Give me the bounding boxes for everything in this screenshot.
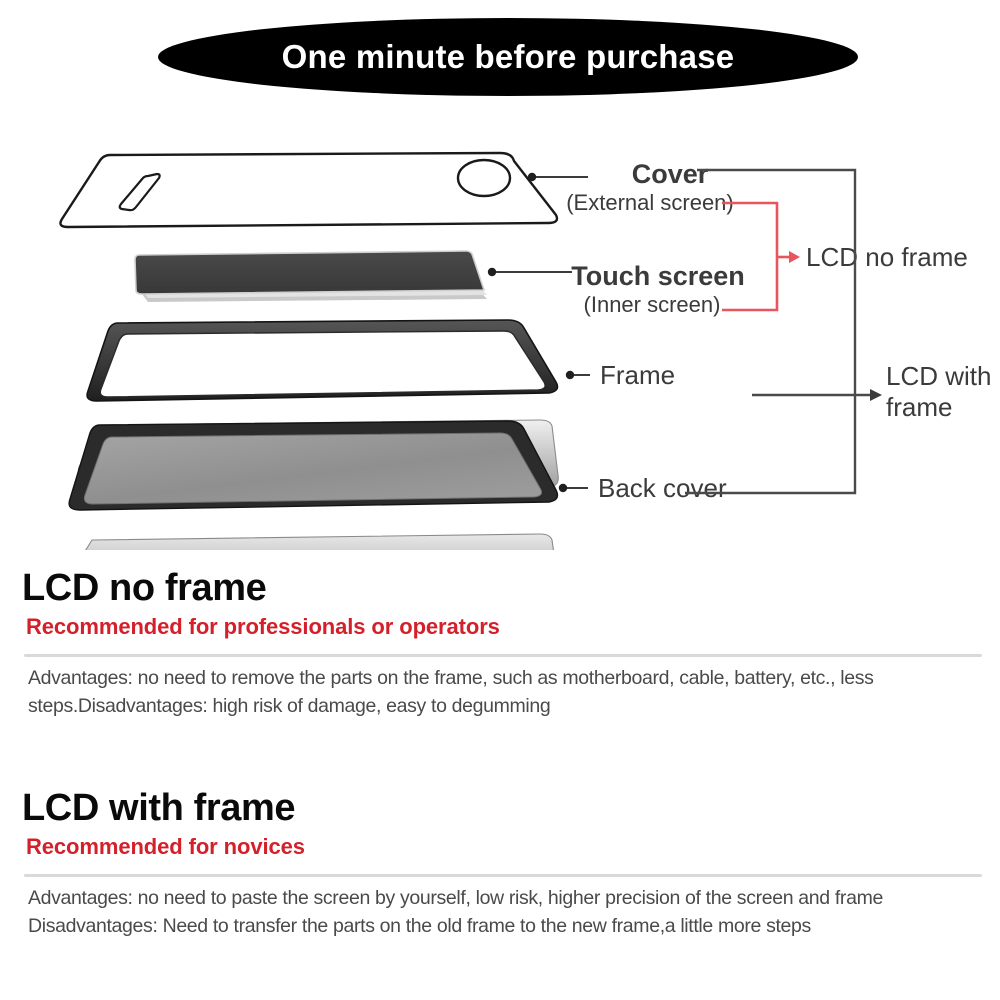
- label-backcover: Back cover: [598, 473, 727, 503]
- section-body-line-1: Advantages: no need to paste the screen …: [28, 885, 980, 913]
- section-recommendation-lcd-with-frame: Recommended for novices: [26, 834, 1000, 860]
- title-banner: One minute before purchase: [158, 18, 858, 96]
- section-body-line-2: steps.Disadvantages: high risk of damage…: [28, 693, 980, 721]
- label-lcd-with-frame-line2: frame: [886, 392, 952, 422]
- section-divider-lcd-no-frame: [24, 654, 982, 657]
- label-touchscreen-sub: (Inner screen): [584, 292, 721, 317]
- callout-arrow-lcd-no-frame: [789, 251, 800, 263]
- section-lcd-no-frame: LCD no frame Recommended for professiona…: [0, 568, 1000, 721]
- section-body-line-1: Advantages: no need to remove the parts …: [28, 665, 980, 693]
- part-touchscreen-illustration: [135, 251, 487, 302]
- section-lcd-with-frame: LCD with frame Recommended for novices A…: [0, 788, 1000, 941]
- page-title: One minute before purchase: [158, 18, 858, 96]
- section-body-lcd-no-frame: Advantages: no need to remove the parts …: [28, 665, 980, 720]
- label-lcd-no-frame: LCD no frame: [806, 242, 968, 272]
- section-body-lcd-with-frame: Advantages: no need to paste the screen …: [28, 885, 980, 940]
- part-backcover-illustration: [65, 421, 558, 550]
- callout-bracket-lcd-with-frame: [685, 170, 872, 493]
- label-cover-sub: (External screen): [566, 190, 734, 215]
- label-cover: Cover: [632, 159, 709, 189]
- section-divider-lcd-with-frame: [24, 874, 982, 877]
- section-body-line-2: Disadvantages: Need to transfer the part…: [28, 913, 980, 941]
- section-title-lcd-no-frame: LCD no frame: [22, 568, 1000, 610]
- label-frame: Frame: [600, 360, 675, 390]
- label-touchscreen: Touch screen: [571, 261, 745, 291]
- label-lcd-with-frame-line1: LCD with: [886, 361, 991, 391]
- section-recommendation-lcd-no-frame: Recommended for professionals or operato…: [26, 614, 1000, 640]
- callout-arrow-lcd-with-frame: [870, 389, 882, 401]
- part-cover-illustration: [60, 153, 557, 227]
- exploded-phone-diagram: Cover (External screen) Touch screen (In…: [0, 120, 1000, 550]
- section-title-lcd-with-frame: LCD with frame: [22, 788, 1000, 830]
- callout-bracket-lcd-no-frame: [722, 203, 789, 310]
